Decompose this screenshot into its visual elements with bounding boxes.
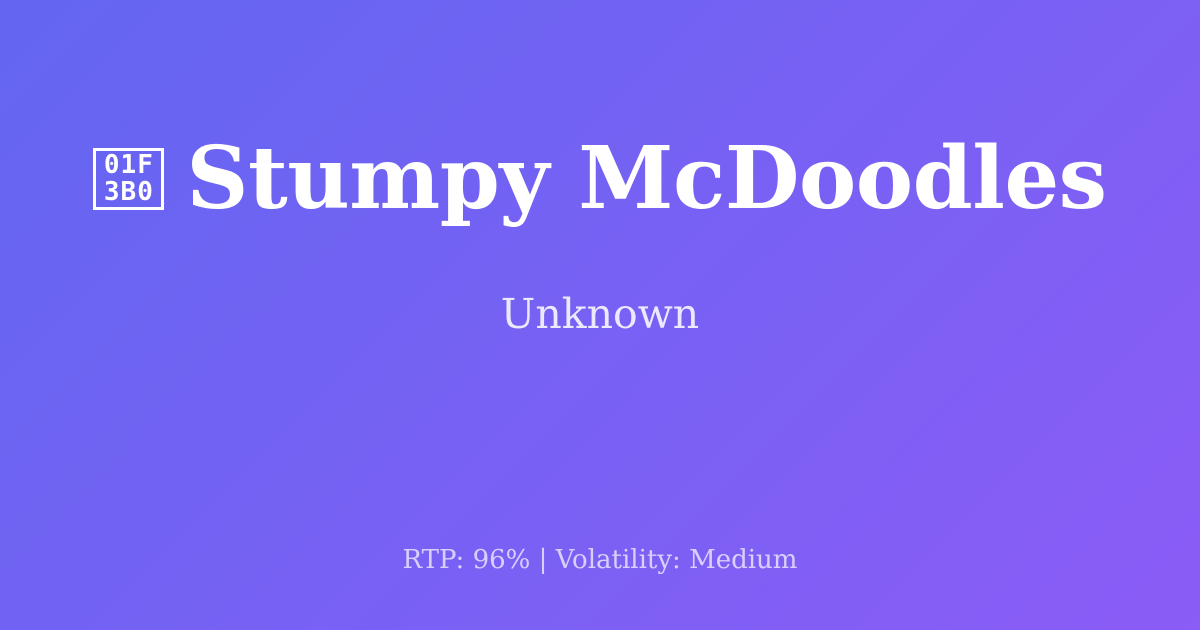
slot-machine-icon: 01F 3B0 xyxy=(93,148,164,210)
page-title: Stumpy McDoodles xyxy=(186,136,1106,222)
codepoint-hex-top: 01F xyxy=(104,152,154,179)
og-share-card: 01F 3B0 Stumpy McDoodles Unknown RTP: 96… xyxy=(0,0,1200,630)
page-subtitle: Unknown xyxy=(501,294,699,335)
footer: RTP: 96% | Volatility: Medium xyxy=(0,547,1200,573)
codepoint-hex-bottom: 3B0 xyxy=(104,179,154,206)
game-stats-line: RTP: 96% | Volatility: Medium xyxy=(403,547,798,573)
title-row: 01F 3B0 Stumpy McDoodles xyxy=(93,136,1106,222)
hero-block: 01F 3B0 Stumpy McDoodles Unknown xyxy=(0,0,1200,470)
